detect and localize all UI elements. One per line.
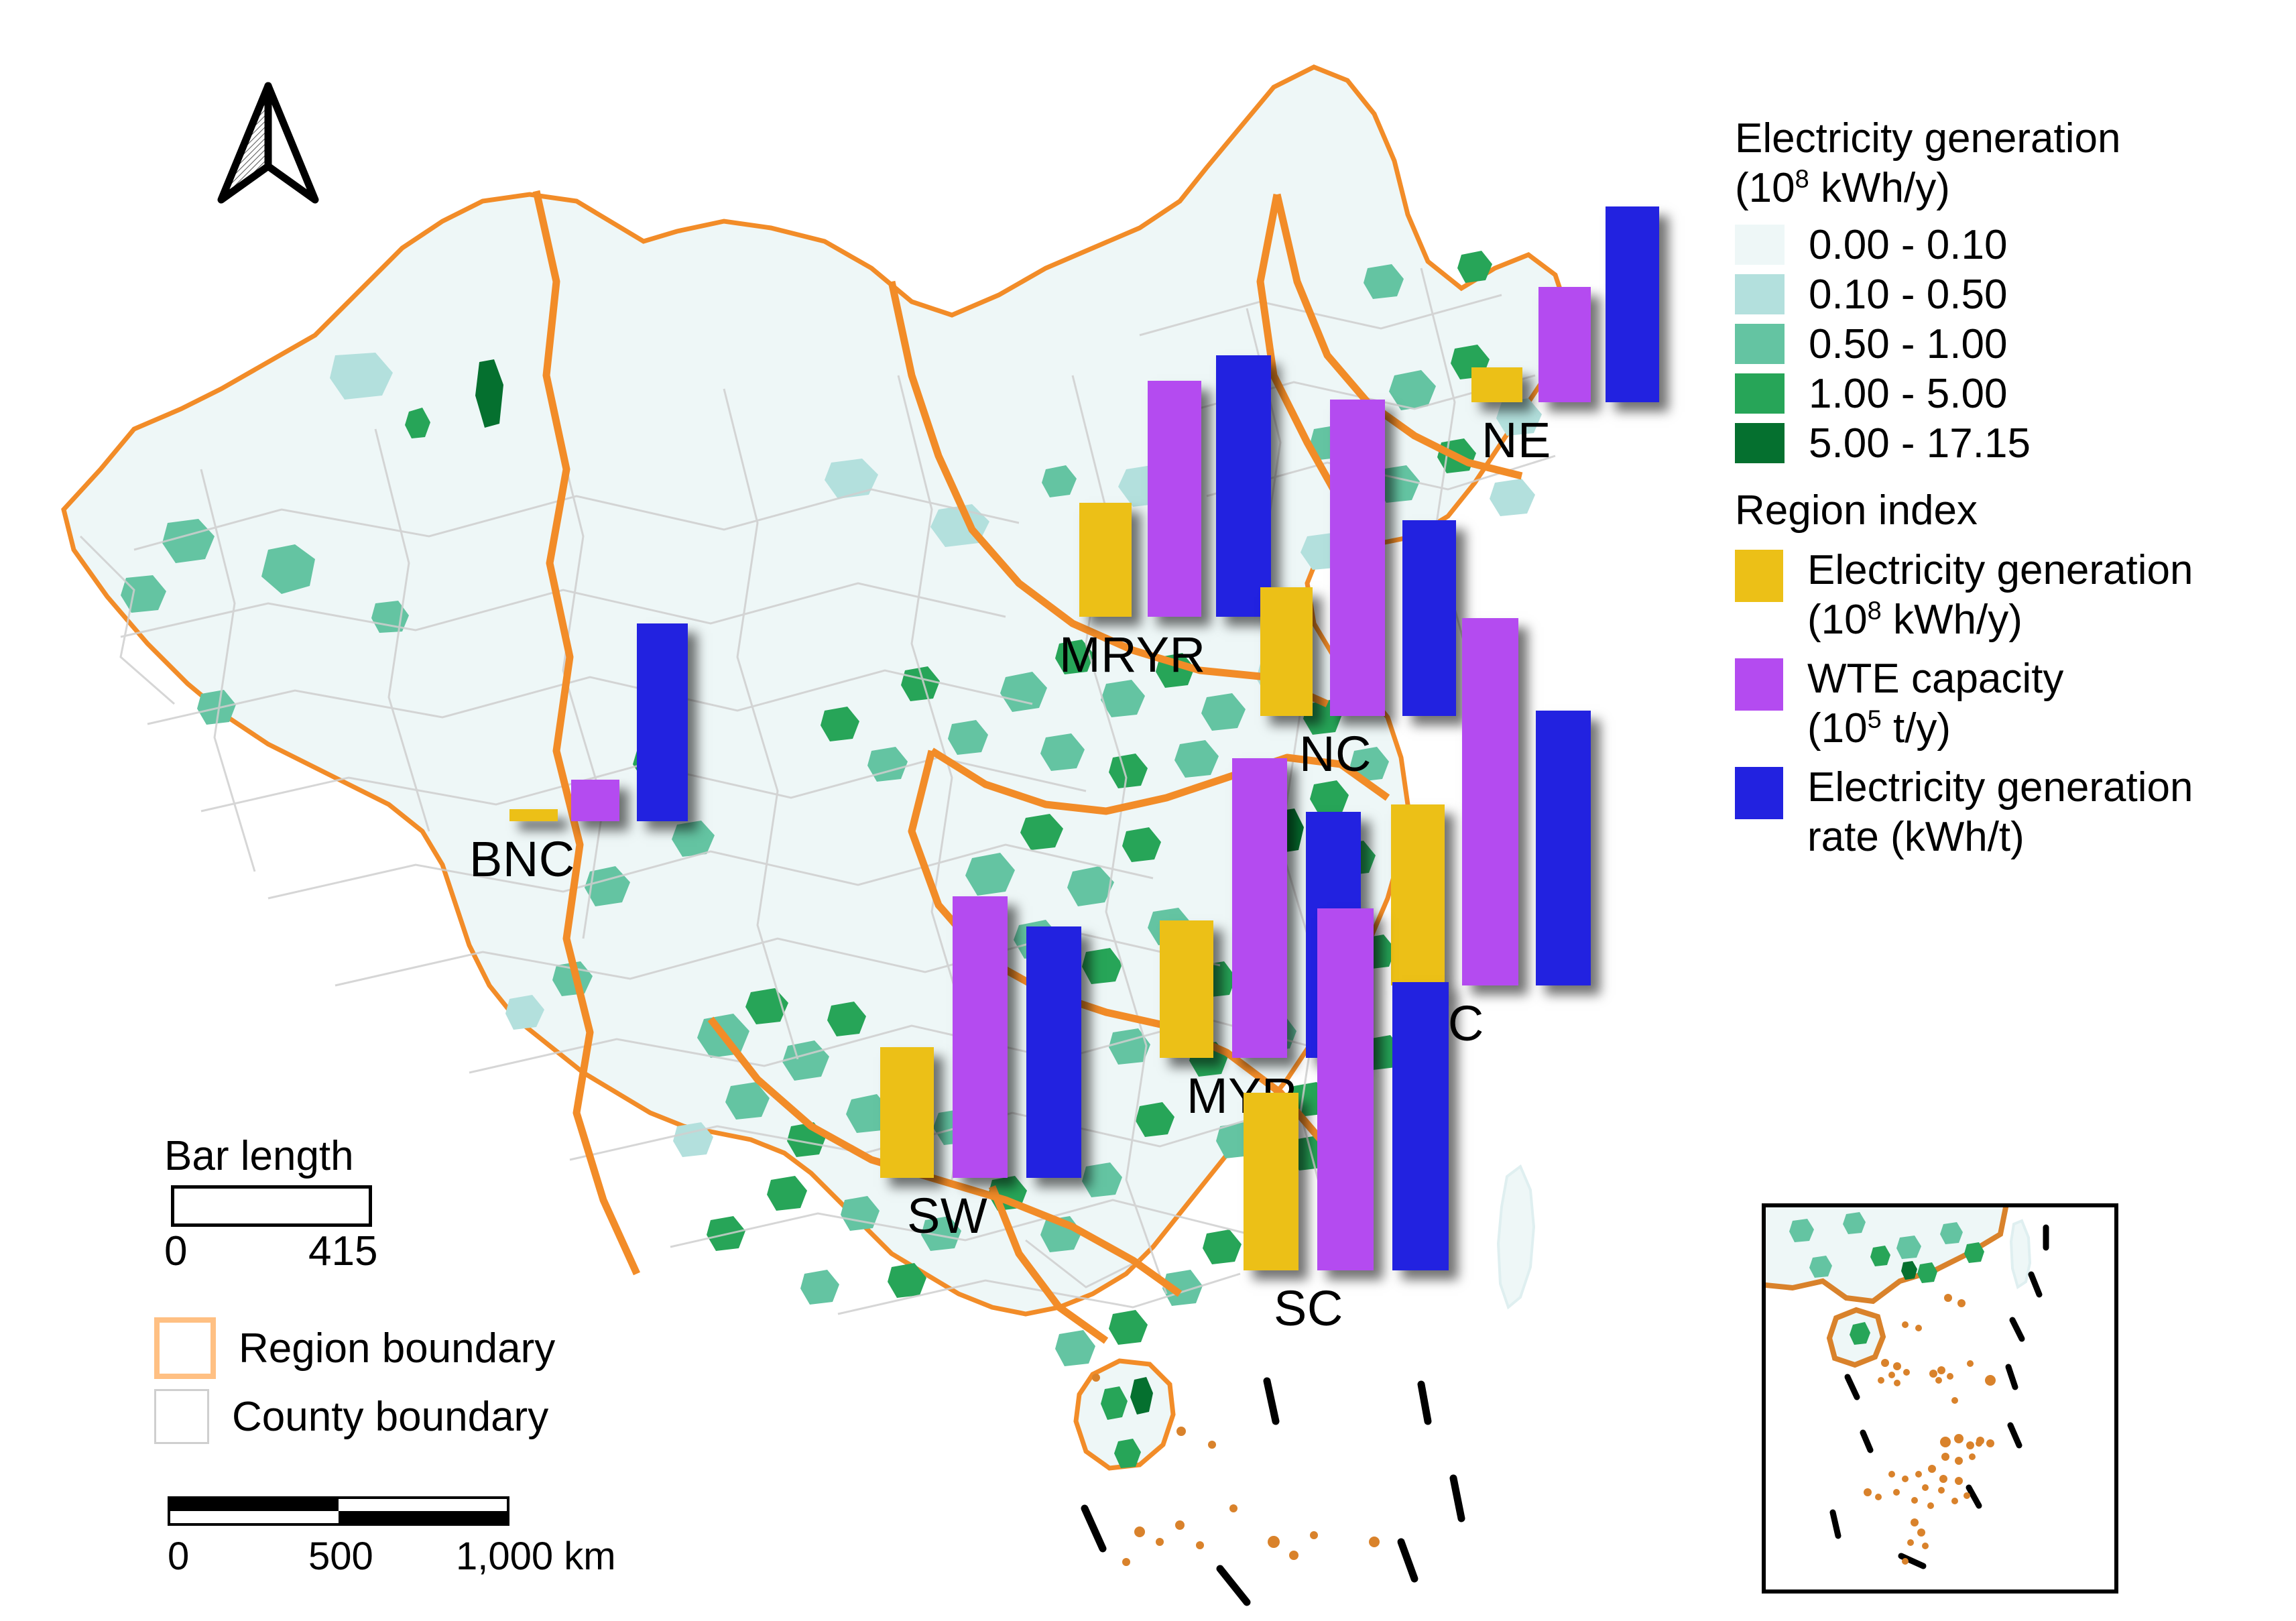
bar-sc-yellow: [1244, 1093, 1298, 1270]
choropleth-class-row: 0.10 - 0.50: [1735, 269, 2291, 319]
choropleth-class-list: 0.00 - 0.100.10 - 0.500.50 - 1.001.00 - …: [1735, 220, 2291, 468]
bar-ne-yellow: [1471, 367, 1522, 402]
choropleth-class-label: 1.00 - 5.00: [1809, 370, 2007, 418]
county-boundary-swatch: [154, 1389, 209, 1444]
choropleth-swatch: [1735, 225, 1785, 265]
bar-sc-blue: [1392, 982, 1449, 1270]
bar-group-ne: [1471, 27, 1673, 402]
bar-myr-yellow: [1160, 920, 1213, 1058]
region-index-title: Region index: [1735, 485, 2291, 536]
choropleth-class-row: 0.50 - 1.00: [1735, 319, 2291, 369]
region-boundary-label: Region boundary: [239, 1325, 555, 1372]
taiwan-island: [1498, 1166, 1534, 1307]
region-index-swatch: [1735, 550, 1783, 602]
bars-container: [1244, 895, 1445, 1270]
region-label-sw: SW: [907, 1191, 987, 1241]
region-index-row: Electricity generationrate (kWh/t): [1735, 763, 2291, 862]
choropleth-class-row: 0.00 - 0.10: [1735, 220, 2291, 269]
county-boundary-label: County boundary: [232, 1393, 548, 1441]
bar-length-tick-max: 415: [308, 1228, 377, 1275]
choropleth-swatch: [1735, 274, 1785, 314]
region-index-row: WTE capacity(105 t/y): [1735, 654, 2291, 754]
bar-length-caption: Bar length: [164, 1133, 540, 1180]
bar-mryr-purple: [1148, 381, 1201, 617]
inset-map-svg: [1766, 1207, 2114, 1589]
region-index-row: Electricity generation(108 kWh/y): [1735, 546, 2291, 645]
bar-group-sw: [880, 802, 1081, 1178]
scale-bar-graphic: [168, 1496, 509, 1526]
bar-ec-blue: [1536, 711, 1591, 985]
bar-ne-purple: [1538, 287, 1591, 402]
bar-ec-purple: [1462, 618, 1518, 985]
choropleth-legend-title-line1: Electricity generation: [1735, 114, 2291, 164]
bars-container: [880, 802, 1081, 1178]
bar-bnc-blue: [637, 623, 688, 821]
bars-container: [1471, 27, 1673, 402]
legend-row-region-boundary: Region boundary: [154, 1314, 555, 1382]
bar-nc-purple: [1330, 400, 1385, 716]
scale-bar-ticks: 0 500 1,000 km: [168, 1533, 530, 1581]
bar-group-mryr: [1079, 241, 1280, 617]
bars-container: [1079, 241, 1280, 617]
choropleth-class-row: 1.00 - 5.00: [1735, 369, 2291, 418]
bar-sw-blue: [1026, 926, 1081, 1178]
region-index-label: Electricity generation(108 kWh/y): [1807, 546, 2193, 645]
choropleth-class-row: 5.00 - 17.15: [1735, 418, 2291, 468]
north-arrow-icon: [215, 80, 322, 208]
region-label-ne: NE: [1482, 416, 1551, 465]
bars-container: [509, 446, 711, 821]
region-index-label: Electricity generationrate (kWh/t): [1807, 763, 2193, 862]
region-index-swatch: [1735, 658, 1783, 711]
choropleth-class-label: 0.00 - 0.10: [1809, 221, 2007, 269]
choropleth-legend-title-line2: (108 kWh/y): [1735, 164, 2291, 213]
legend-row-county-boundary: County boundary: [154, 1382, 555, 1451]
boundary-legend: Region boundary County boundary: [154, 1314, 555, 1451]
region-label-sc: SC: [1274, 1284, 1343, 1333]
choropleth-swatch: [1735, 324, 1785, 364]
bar-bnc-yellow: [509, 809, 558, 821]
region-index-swatch: [1735, 767, 1783, 819]
choropleth-class-label: 5.00 - 17.15: [1809, 420, 2031, 467]
bar-sw-yellow: [880, 1047, 934, 1178]
bar-group-sc: [1244, 895, 1445, 1270]
choropleth-swatch: [1735, 423, 1785, 463]
legend-panel: Electricity generation (108 kWh/y) 0.00 …: [1735, 114, 2291, 862]
scale-tick-1000: 1,000 km: [456, 1533, 616, 1581]
bar-sw-purple: [953, 896, 1008, 1178]
inset-map-south-china-sea: [1762, 1203, 2118, 1594]
choropleth-class-label: 0.10 - 0.50: [1809, 271, 2007, 318]
region-label-mryr: MRYR: [1059, 630, 1206, 680]
region-boundary-swatch: [154, 1317, 216, 1379]
distance-scale-bar: 0 500 1,000 km: [168, 1496, 530, 1581]
region-label-bnc: BNC: [469, 835, 575, 884]
region-index-list: Electricity generation(108 kWh/y)WTE cap…: [1735, 546, 2291, 862]
bar-length-ticks: 0 415: [164, 1228, 540, 1275]
bar-length-box: [171, 1185, 372, 1227]
choropleth-class-label: 0.50 - 1.00: [1809, 320, 2007, 368]
bar-length-scale: Bar length 0 415: [164, 1133, 540, 1275]
figure-root: BNCNEMRYRNCECMYRSWSC Electricity generat…: [0, 0, 2296, 1621]
choropleth-swatch: [1735, 373, 1785, 414]
region-index-label: WTE capacity(105 t/y): [1807, 654, 2063, 754]
scale-tick-0: 0: [168, 1533, 189, 1581]
scale-tick-500: 500: [308, 1533, 373, 1581]
bar-length-tick-min: 0: [164, 1228, 187, 1275]
bar-bnc-purple: [571, 780, 619, 821]
bar-mryr-yellow: [1079, 503, 1132, 617]
bar-ne-blue: [1606, 206, 1659, 402]
bar-group-bnc: [509, 446, 711, 821]
bar-sc-purple: [1317, 908, 1374, 1270]
